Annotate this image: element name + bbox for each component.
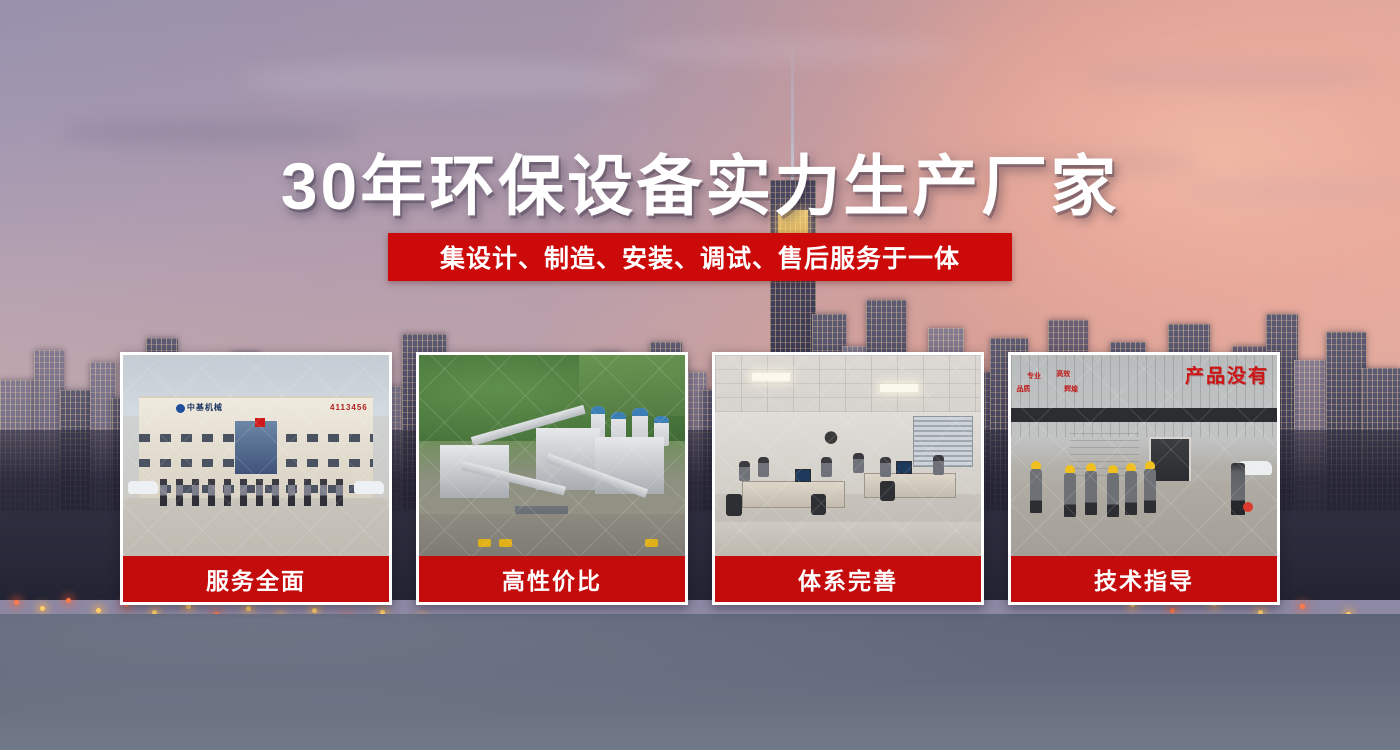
card-caption-bar: 体系完善 (715, 556, 981, 602)
card-caption-label: 技术指导 (1094, 562, 1194, 596)
promo-banner: 30年环保设备实力生产厂家 集设计、制造、安装、调试、售后服务于一体 (0, 0, 1400, 750)
factory-slogan: 辉煌 (1064, 386, 1078, 395)
building-phone-number: 4113456 (330, 403, 368, 412)
building-signage: 中基机械 (187, 402, 223, 413)
feature-card-service[interactable]: 中基机械 4113456 (120, 352, 392, 605)
card-photo-office-building: 中基机械 4113456 (123, 355, 389, 559)
feature-card-system[interactable]: 体系完善 (712, 352, 984, 605)
card-caption-bar: 服务全面 (123, 556, 389, 602)
feature-card-value[interactable]: 高性价比 (416, 352, 688, 605)
factory-slogan: 高效 (1056, 371, 1070, 380)
feature-card-list: 中基机械 4113456 (120, 352, 1280, 605)
card-photo-office-interior (715, 355, 981, 559)
card-photo-factory-workers: 产品没有 专业 高效 品质 辉煌 (1011, 355, 1277, 559)
subtitle-banner: 集设计、制造、安装、调试、售后服务于一体 (388, 233, 1012, 281)
card-caption-label: 体系完善 (798, 562, 898, 596)
feature-card-guidance[interactable]: 产品没有 专业 高效 品质 辉煌 (1008, 352, 1280, 605)
factory-slogan: 品质 (1016, 386, 1030, 395)
card-caption-bar: 技术指导 (1011, 556, 1277, 602)
factory-signage: 产品没有 (1185, 361, 1269, 388)
factory-slogan: 专业 (1027, 373, 1041, 382)
red-helmet (1243, 502, 1253, 512)
river-water (0, 614, 1400, 750)
card-caption-label: 服务全面 (206, 562, 306, 596)
card-caption-bar: 高性价比 (419, 556, 685, 602)
card-caption-label: 高性价比 (502, 562, 602, 596)
subtitle-text: 集设计、制造、安装、调试、售后服务于一体 (440, 239, 960, 275)
card-photo-industrial-plant (419, 355, 685, 559)
page-title: 30年环保设备实力生产厂家 (0, 133, 1400, 229)
